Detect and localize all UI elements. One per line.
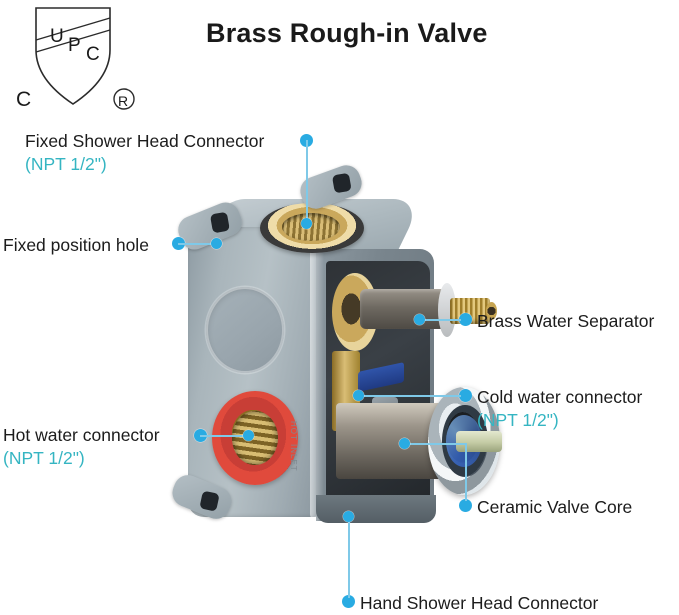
hot-inlet-marking: HOT INLET: [289, 421, 298, 472]
fixed-shower-head-port-thread: [282, 213, 340, 241]
svg-text:P: P: [68, 35, 81, 56]
callout-brass-water-separator: Brass Water Separator: [477, 310, 654, 333]
callout-hot-water-connector: Hot water connector (NPT 1/2"): [3, 424, 160, 471]
svg-text:U: U: [50, 26, 64, 47]
leader-line-fixed-position-hole: [178, 243, 214, 245]
product-diagram: U P C C R Brass Rough-in Valve HOT INLET: [0, 0, 679, 614]
leader-line-brass-water-separator: [419, 319, 461, 321]
anchor-dot-hand-shower-head-connector: [343, 511, 354, 522]
callout-fixed-shower-head-connector: Fixed Shower Head Connector (NPT 1/2"): [25, 130, 264, 177]
leader-line-ceramic-valve-core-vertical: [465, 443, 467, 501]
fixed-position-hole-top-left: [210, 212, 230, 234]
callout-label-text: Ceramic Valve Core: [477, 497, 632, 517]
leader-line-hot-water-connector: [200, 435, 246, 437]
callout-hand-shower-head-connector: Hand Shower Head Connector: [360, 592, 598, 615]
callout-fixed-position-hole: Fixed position hole: [3, 234, 149, 257]
callout-label-text: Hot water connector: [3, 425, 160, 445]
anchor-dot-ceramic-valve-core: [399, 438, 410, 449]
anchor-dot-hot-water-connector: [243, 430, 254, 441]
callout-spec-text: (NPT 1/2"): [477, 409, 642, 432]
leader-line-cold-water-connector: [358, 395, 461, 397]
callout-spec-text: (NPT 1/2"): [3, 447, 160, 470]
valve-edge-highlight: [310, 235, 324, 521]
svg-text:C: C: [16, 88, 31, 111]
fixed-position-hole-top-right: [332, 173, 352, 194]
callout-label-text: Hand Shower Head Connector: [360, 593, 598, 613]
callout-ceramic-valve-core: Ceramic Valve Core: [477, 496, 632, 519]
callout-label-text: Brass Water Separator: [477, 311, 654, 331]
valve-illustration: HOT INLET: [150, 165, 530, 565]
page-title: Brass Rough-in Valve: [206, 18, 488, 49]
leader-line-ceramic-valve-core-horizontal: [404, 443, 466, 445]
callout-spec-text: (NPT 1/2"): [25, 153, 264, 176]
svg-text:R: R: [118, 93, 128, 109]
upc-shield-icon: U P C C R: [14, 4, 142, 114]
callout-label-text: Fixed position hole: [3, 235, 149, 255]
anchor-dot-fixed-position-hole: [211, 238, 222, 249]
anchor-dot-fixed-shower-head-connector: [301, 218, 312, 229]
leader-line-fixed-shower-head-connector: [306, 140, 308, 225]
leader-line-hand-shower-head-connector: [348, 516, 350, 598]
anchor-dot-brass-water-separator: [414, 314, 425, 325]
fixed-position-hole-bottom-left: [199, 491, 219, 512]
callout-label-text: Fixed Shower Head Connector: [25, 131, 264, 151]
valve-access-cap: [206, 287, 284, 373]
brass-separator-shaft: [360, 289, 446, 329]
ceramic-valve-core-stem: [456, 431, 502, 452]
hot-water-port-thread: [232, 411, 278, 465]
callout-cold-water-connector: Cold water connector (NPT 1/2"): [477, 386, 642, 433]
anchor-dot-cold-water-connector: [353, 390, 364, 401]
callout-label-text: Cold water connector: [477, 387, 642, 407]
svg-text:C: C: [86, 44, 100, 65]
hand-shower-outlet-face: [316, 495, 436, 523]
upc-certification-logo: U P C C R: [14, 4, 142, 114]
